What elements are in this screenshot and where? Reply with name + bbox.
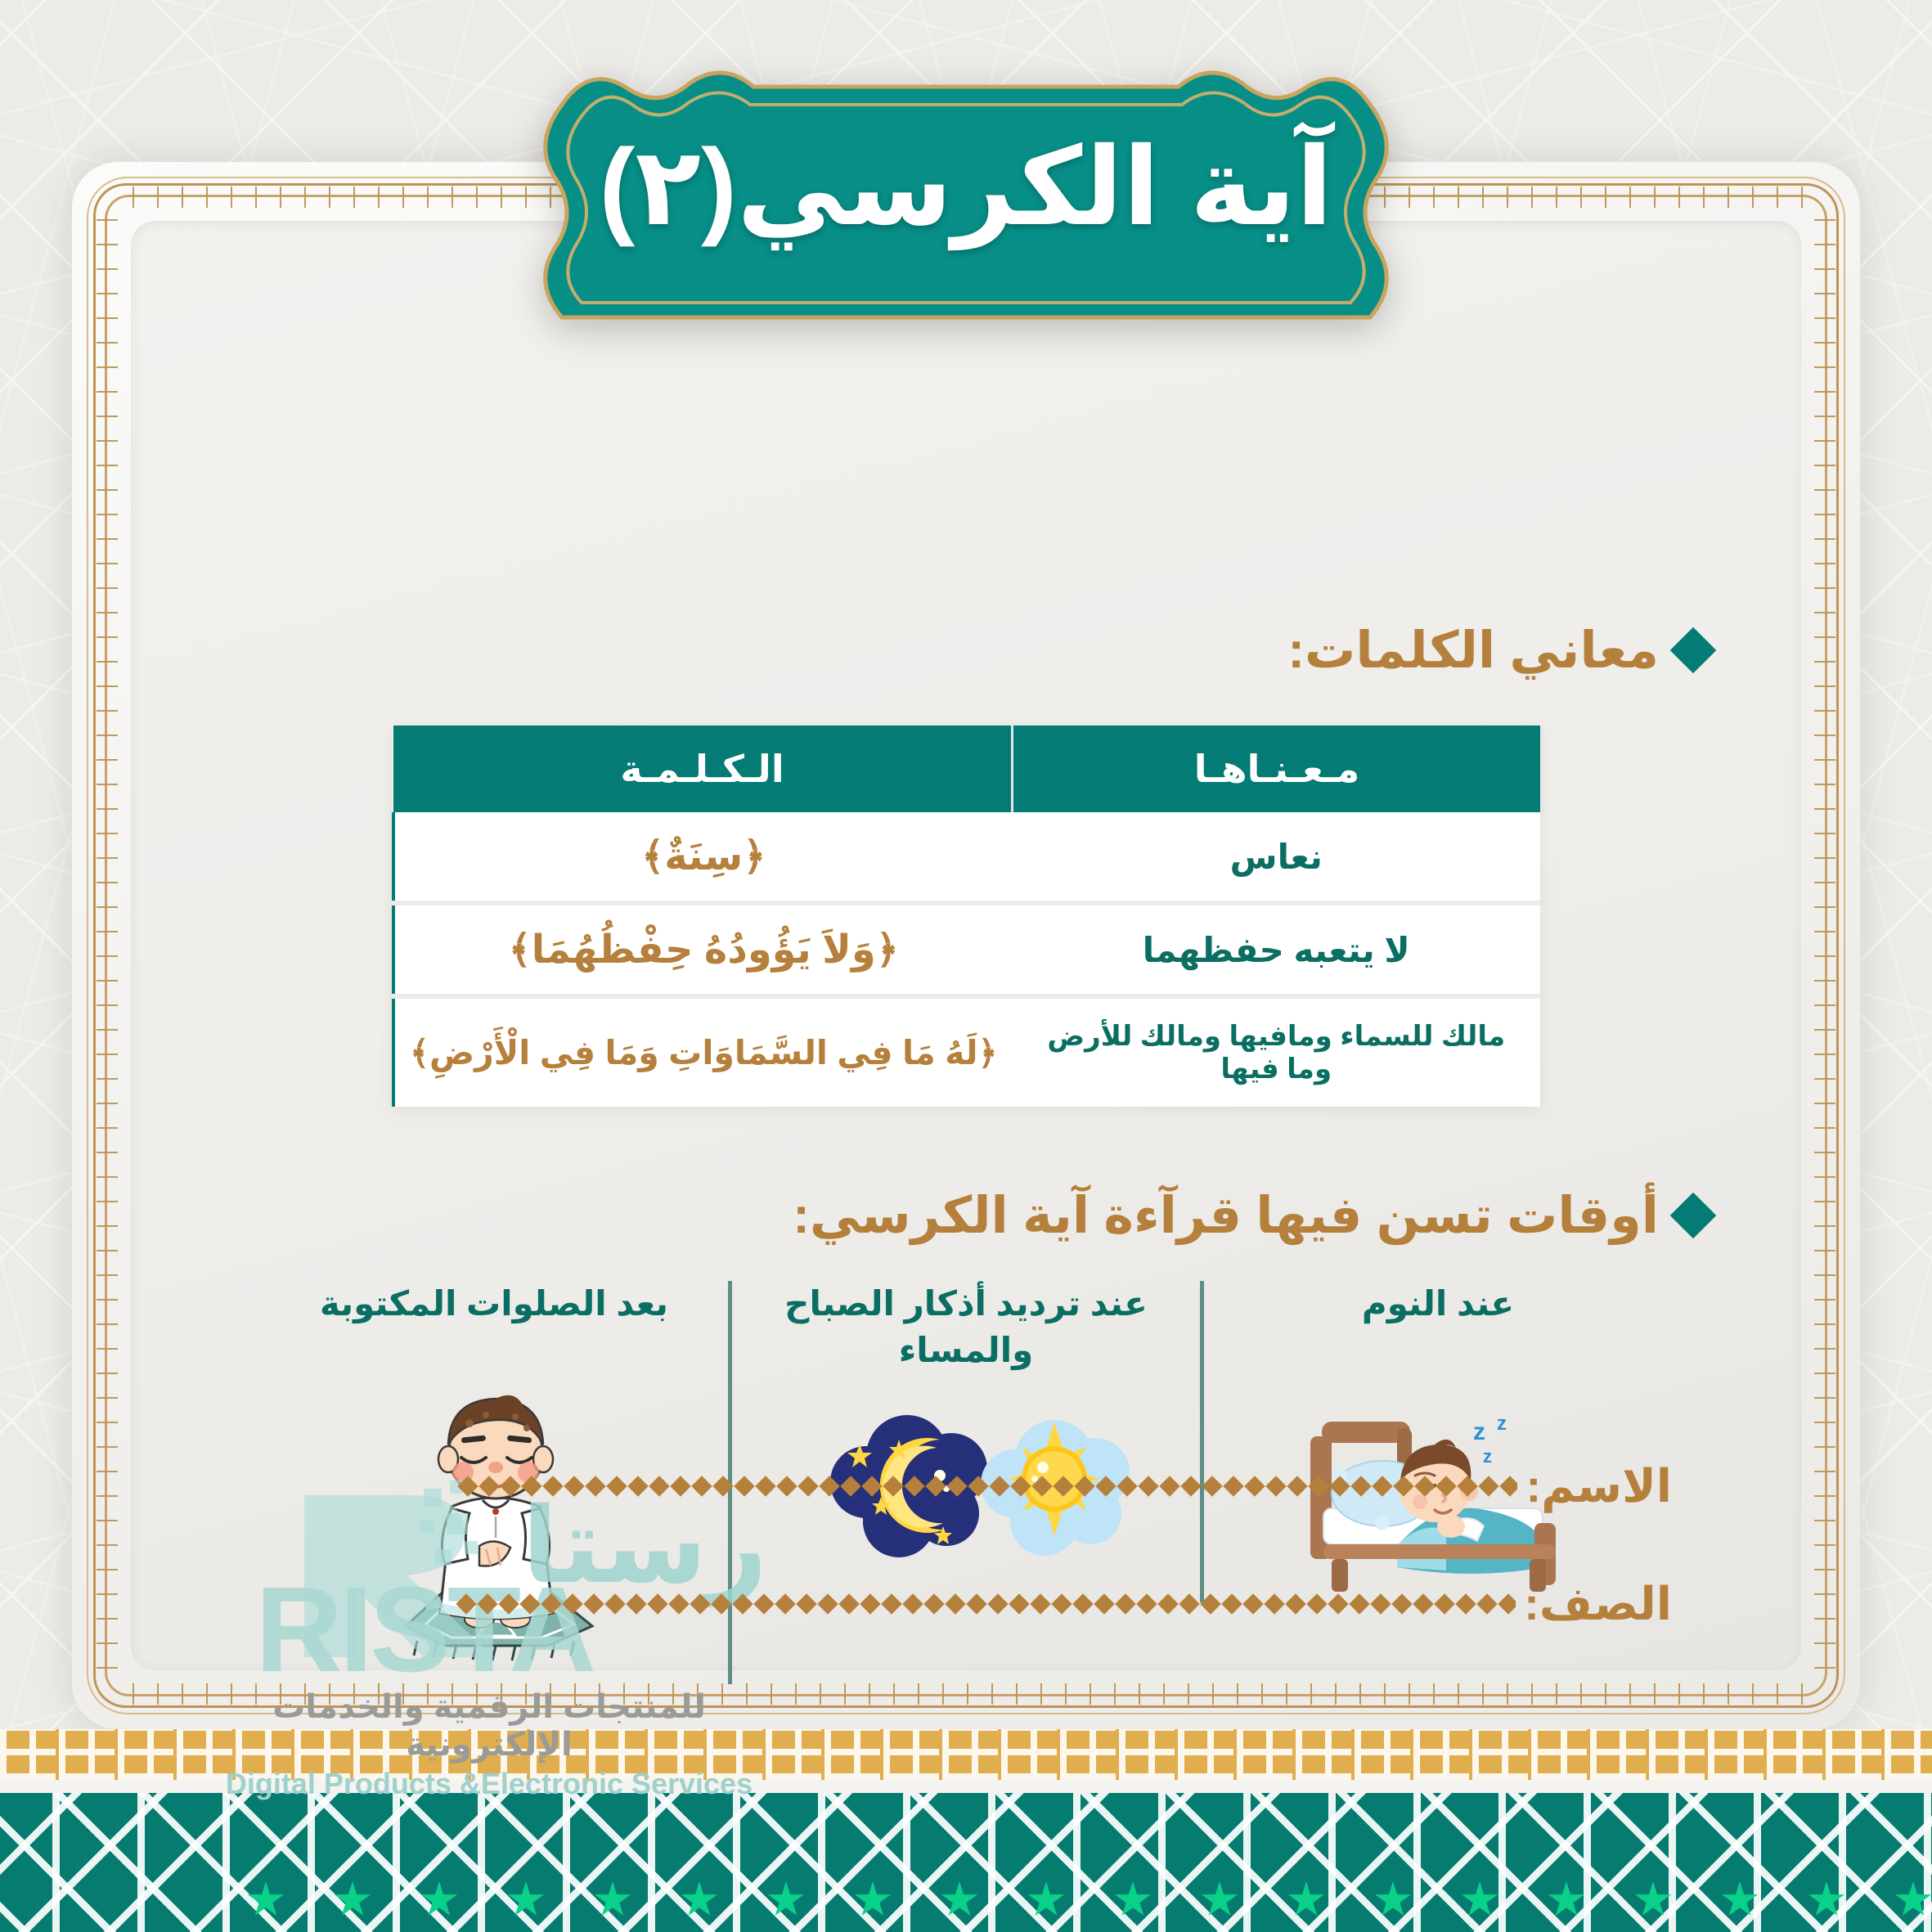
cell-meaning: لا يتعبه حفظهما (1012, 903, 1540, 996)
field-label-name: الاسم: (1525, 1459, 1672, 1513)
page-title: آية الكرسي(٢) (483, 57, 1449, 327)
time-label: عند النوم (1362, 1281, 1514, 1377)
time-label: بعد الصلوات المكتوبة (320, 1281, 668, 1377)
diamond-bullet-icon (1670, 1192, 1717, 1238)
cell-word: ﴿سِنَةٌ﴾ (393, 812, 1012, 903)
field-row-name: الاسم: (260, 1459, 1672, 1513)
worksheet-page: معاني الكلمات: مـعـنـاهـا الـكـلـمـة نعا… (0, 0, 1932, 1932)
table-row: نعاس ﴿سِنَةٌ﴾ (393, 812, 1540, 903)
class-write-line[interactable] (273, 1592, 1516, 1616)
field-row-class: الصف: (260, 1577, 1672, 1631)
band-star-accents (0, 1881, 1932, 1919)
section-heading-recommended-times: أوقات تسن فيها قرآءة آية الكرسي: (260, 1185, 1710, 1245)
band-separator (0, 1780, 1932, 1793)
section-title-text: معاني الكلمات: (1287, 620, 1659, 680)
worksheet-card: معاني الكلمات: مـعـنـاهـا الـكـلـمـة نعا… (72, 162, 1860, 1729)
chain-ornament-right (1814, 211, 1835, 1680)
chain-ornament-left (97, 211, 118, 1680)
gold-meander-strip (0, 1729, 1932, 1780)
word-meanings-table: مـعـنـاهـا الـكـلـمـة نعاس ﴿سِنَةٌ﴾ لا ي… (392, 726, 1540, 1107)
section-title-text: أوقات تسن فيها قرآءة آية الكرسي: (793, 1185, 1659, 1245)
cell-word: ﴿وَلاَ يَؤُودُهُ حِفْظُهُمَا﴾ (393, 903, 1012, 996)
teal-geometric-strip (0, 1793, 1932, 1932)
column-header-word: الـكـلـمـة (393, 726, 1012, 812)
cell-meaning: نعاس (1012, 812, 1540, 903)
cell-word: ﴿لَهُ مَا فِي السَّمَاوَاتِ وَمَا فِي ال… (393, 996, 1012, 1107)
svg-text:z: z (1473, 1418, 1485, 1445)
table-header-row: مـعـنـاهـا الـكـلـمـة (393, 726, 1540, 812)
cell-meaning: مالك للسماء ومافيها ومالك للأرض وما فيها (1012, 996, 1540, 1107)
table-row: لا يتعبه حفظهما ﴿وَلاَ يَؤُودُهُ حِفْظُه… (393, 903, 1540, 996)
time-label: عند ترديد أذكار الصباح والمساء (752, 1281, 1180, 1377)
table-row: مالك للسماء ومافيها ومالك للأرض وما فيها… (393, 996, 1540, 1107)
section-heading-word-meanings: معاني الكلمات: (260, 620, 1710, 680)
svg-text:z: z (1497, 1413, 1507, 1435)
field-label-class: الصف: (1524, 1577, 1672, 1631)
diamond-bullet-icon (1670, 627, 1717, 673)
name-write-line[interactable] (273, 1474, 1517, 1498)
title-plaque: آية الكرسي(٢) (483, 57, 1449, 327)
column-header-meaning: مـعـنـاهـا (1012, 726, 1540, 812)
student-fields: الاسم: الصف: (260, 1459, 1672, 1631)
bottom-decorative-band (0, 1729, 1932, 1932)
